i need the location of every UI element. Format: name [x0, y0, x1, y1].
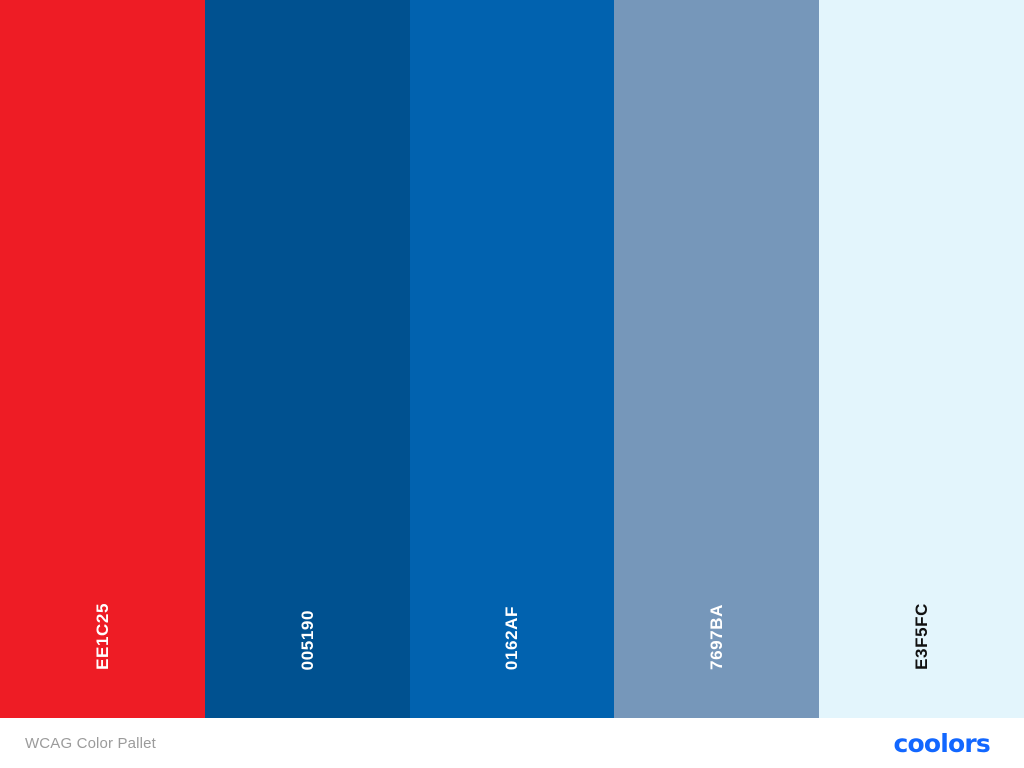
coolors-logo[interactable]: coolors [893, 731, 990, 756]
color-swatch-4-hex-label: 7697BA [708, 604, 725, 670]
palette-title: WCAG Color Pallet [25, 735, 156, 752]
color-swatch-1-hex-label: EE1C25 [94, 603, 111, 670]
color-swatch-2[interactable]: 005190 [205, 0, 410, 718]
color-palette-page: EE1C25 005190 0162AF 7697BA E3F5FC WCAG … [0, 0, 1024, 768]
color-swatch-4[interactable]: 7697BA [614, 0, 819, 718]
color-swatch-5[interactable]: E3F5FC [819, 0, 1024, 718]
color-swatch-2-hex-label: 005190 [299, 610, 316, 670]
color-swatch-5-hex-label: E3F5FC [913, 603, 930, 670]
coolors-wordmark-icon: coolors [893, 731, 990, 756]
swatch-strip: EE1C25 005190 0162AF 7697BA E3F5FC [0, 0, 1024, 718]
footer-bar: WCAG Color Pallet coolors [0, 718, 1024, 768]
color-swatch-3[interactable]: 0162AF [410, 0, 615, 718]
color-swatch-3-hex-label: 0162AF [503, 606, 520, 670]
color-swatch-1[interactable]: EE1C25 [0, 0, 205, 718]
